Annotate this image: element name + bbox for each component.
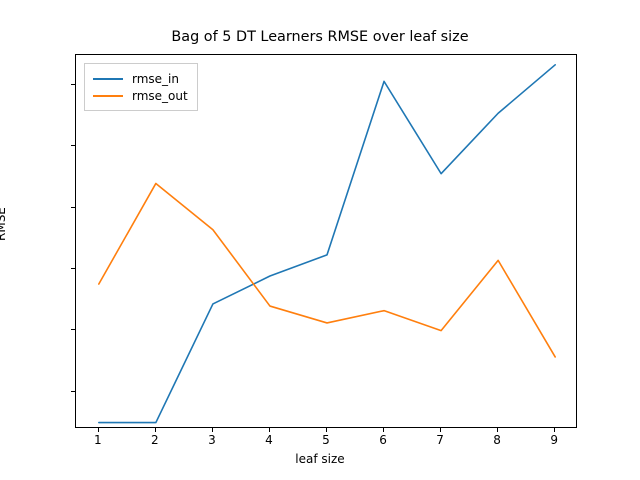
x-tick-mark	[497, 428, 498, 432]
y-tick-mark	[71, 391, 75, 392]
x-tick-label: 7	[436, 433, 444, 447]
x-tick-mark	[212, 428, 213, 432]
chart-legend: rmse_in rmse_out	[84, 63, 198, 111]
chart-title: Bag of 5 DT Learners RMSE over leaf size	[0, 29, 640, 45]
y-tick-mark	[71, 268, 75, 269]
x-tick-label: 5	[322, 433, 330, 447]
x-tick-mark	[98, 428, 99, 432]
x-tick-label: 9	[550, 433, 558, 447]
x-tick-label: 2	[151, 433, 159, 447]
line-series-rmse-out	[99, 183, 555, 357]
line-series-rmse-in	[99, 65, 555, 423]
legend-label-rmse-in: rmse_in	[132, 72, 179, 86]
legend-item-rmse-in: rmse_in	[93, 70, 188, 87]
y-tick-mark	[71, 145, 75, 146]
x-tick-mark	[269, 428, 270, 432]
plot-svg	[76, 55, 578, 429]
x-tick-label: 4	[265, 433, 273, 447]
legend-label-rmse-out: rmse_out	[132, 89, 188, 103]
chart-figure: Bag of 5 DT Learners RMSE over leaf size…	[0, 0, 640, 480]
y-tick-mark	[71, 84, 75, 85]
x-tick-label: 1	[94, 433, 102, 447]
x-axis-label: leaf size	[0, 452, 640, 466]
legend-swatch-rmse-in	[93, 78, 123, 80]
x-tick-mark	[440, 428, 441, 432]
x-tick-mark	[155, 428, 156, 432]
x-tick-mark	[326, 428, 327, 432]
x-tick-label: 3	[208, 433, 216, 447]
x-tick-label: 8	[493, 433, 501, 447]
legend-swatch-rmse-out	[93, 95, 123, 97]
x-tick-mark	[554, 428, 555, 432]
y-tick-mark	[71, 329, 75, 330]
x-tick-label: 6	[379, 433, 387, 447]
y-axis-label: RMSE	[0, 207, 8, 241]
x-tick-mark	[383, 428, 384, 432]
legend-item-rmse-out: rmse_out	[93, 87, 188, 104]
y-tick-mark	[71, 207, 75, 208]
